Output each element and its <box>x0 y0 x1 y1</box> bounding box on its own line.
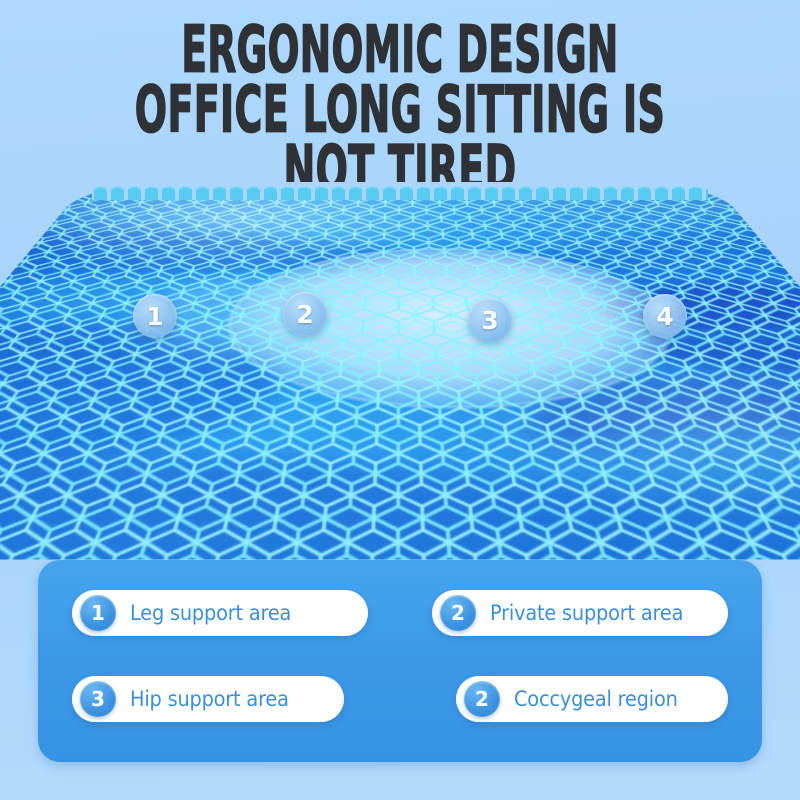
callout-number: 2 <box>296 300 313 329</box>
honeycomb-hex-grid <box>0 186 800 560</box>
legend-item-coccygeal-region[interactable]: 2 Coccygeal region <box>456 676 728 722</box>
cushion-top-face-perspective <box>22 178 778 518</box>
callout-number: 4 <box>656 302 673 331</box>
surface-sheen <box>0 186 800 560</box>
legend-row-2: 3 Hip support area 2 Coccygeal region <box>38 676 762 722</box>
legend-label: Coccygeal region <box>514 687 678 711</box>
infographic-canvas: ERGONOMIC DESIGN OFFICE LONG SITTING IS … <box>0 0 800 800</box>
legend-item-leg-support[interactable]: 1 Leg support area <box>72 590 368 636</box>
support-zone-shapes <box>0 186 800 560</box>
cushion-far-edge-serration <box>92 182 708 200</box>
callout-badge-1[interactable]: 1 <box>133 294 177 338</box>
cushion-top-surface <box>0 186 800 560</box>
product-image-gel-cushion: 1 2 3 4 <box>22 178 778 558</box>
callout-badge-2[interactable]: 2 <box>283 292 327 336</box>
legend-badge: 1 <box>80 595 116 631</box>
callout-badge-4[interactable]: 4 <box>643 294 687 338</box>
page-title: ERGONOMIC DESIGN OFFICE LONG SITTING IS … <box>0 22 800 177</box>
callout-number: 3 <box>481 306 498 335</box>
legend-item-hip-support[interactable]: 3 Hip support area <box>72 676 344 722</box>
legend-panel: 1 Leg support area 2 Private support are… <box>38 560 762 762</box>
legend-badge: 2 <box>464 681 500 717</box>
legend-label: Leg support area <box>130 601 291 625</box>
callout-number: 1 <box>146 302 163 331</box>
legend-label: Private support area <box>490 601 683 625</box>
legend-row-1: 1 Leg support area 2 Private support are… <box>38 590 762 636</box>
legend-badge: 2 <box>440 595 476 631</box>
callout-badge-3[interactable]: 3 <box>468 298 512 342</box>
legend-label: Hip support area <box>130 687 289 711</box>
legend-item-private-support[interactable]: 2 Private support area <box>432 590 728 636</box>
legend-badge: 3 <box>80 681 116 717</box>
